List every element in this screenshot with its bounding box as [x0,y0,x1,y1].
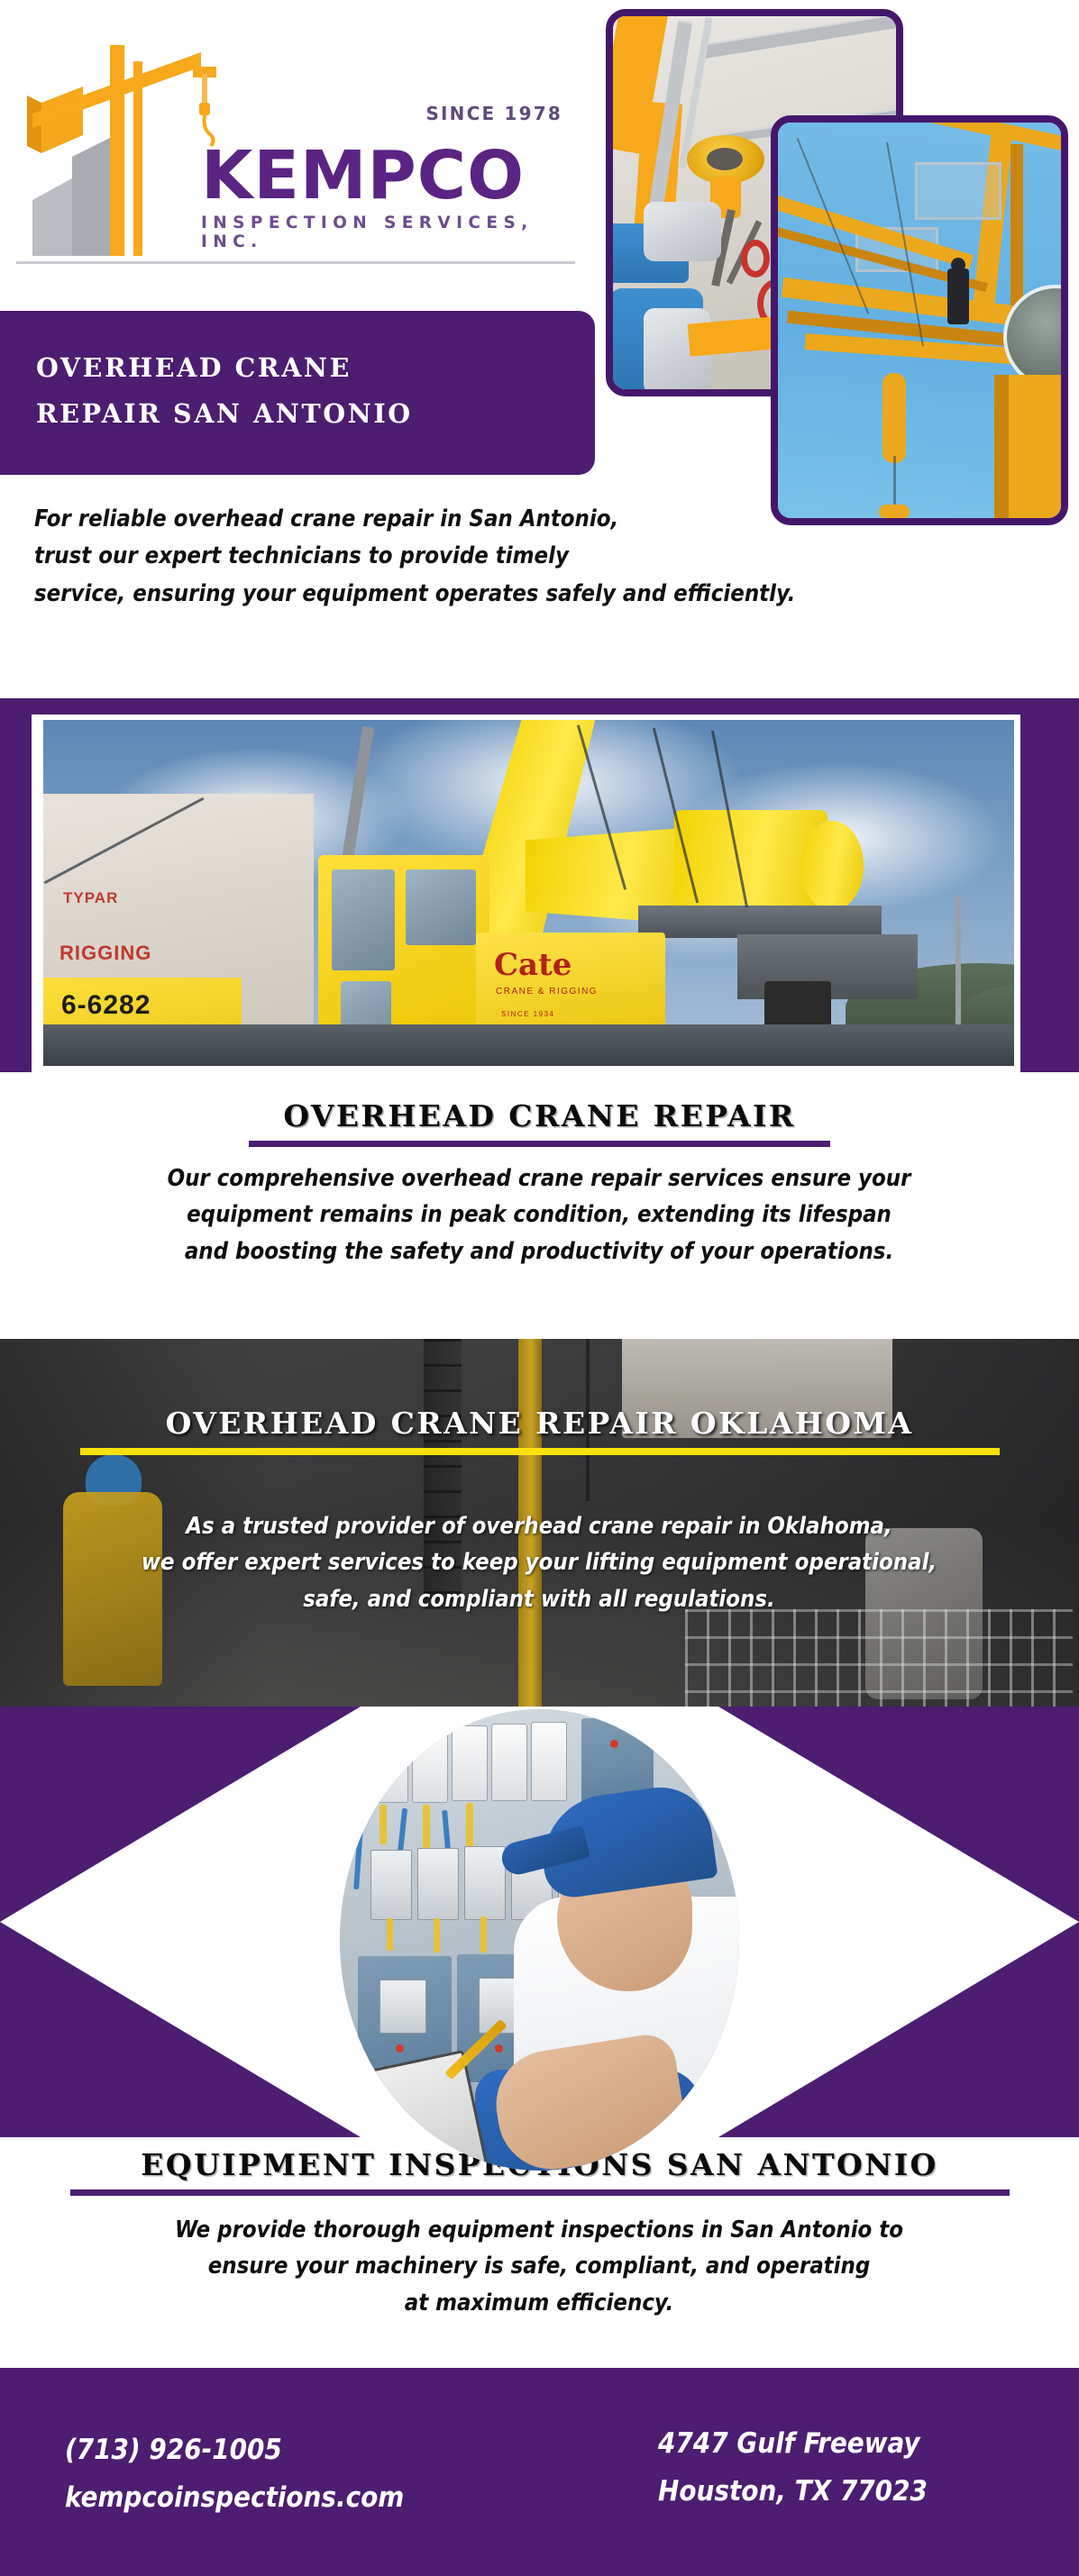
footer-address: 4747 Gulf Freeway Houston, TX 77023 [658,2420,928,2517]
section-1-heading: OVERHEAD CRANE REPAIR [0,1098,1079,1147]
logo-wordmark: KEMPCO INSPECTION SERVICES, INC. [201,144,580,251]
section-2-body: As a trusted provider of overhead crane … [43,1508,1035,1617]
section-1-heading-text: OVERHEAD CRANE REPAIR [283,1098,795,1133]
logo-divider [16,261,575,264]
section-3-heading-rule [70,2189,1010,2196]
section-2-heading-text: OVERHEAD CRANE REPAIR OKLAHOMA [166,1406,914,1441]
section-1-purple-top-band [0,698,1079,715]
logo-tagline: INSPECTION SERVICES, INC. [201,214,580,251]
inspector-scene [340,1709,739,2171]
footer-website[interactable]: kempcoinspections.com [65,2474,404,2522]
section-1-photo-mobile-crane: TYPAR RIGGING TYPAR TYPAR Cate CRANE & R… [38,715,1020,1071]
hero-intro-paragraph: For reliable overhead crane repair in Sa… [34,501,1017,613]
section-2-heading-rule [80,1448,1000,1455]
hero-title-text: OVERHEAD CRANE REPAIR SAN ANTONIO [36,345,413,436]
kempco-logo: KEMPCO INSPECTION SERVICES, INC. SINCE 1… [16,20,575,263]
logo-since-text: SINCE 1978 [425,103,562,124]
section-2-heading: OVERHEAD CRANE REPAIR OKLAHOMA [0,1406,1079,1455]
hero-photo-2-image [778,123,1061,518]
section-3-body-line-1: We provide thorough equipment inspection… [43,2212,1035,2248]
section-1-body-line-2: equipment remains in peak condition, ext… [43,1197,1035,1233]
hero-title-banner: OVERHEAD CRANE REPAIR SAN ANTONIO [0,311,595,475]
section-2-body-line-1: As a trusted provider of overhead crane … [43,1508,1035,1544]
section-2-body-line-2: we offer expert services to keep your li… [43,1544,1035,1580]
section-3-photo-inspector [340,1709,739,2171]
railing-grid-shape [685,1609,1073,1707]
hero-intro-line-1: For reliable overhead crane repair in Sa… [34,501,1017,538]
section-2-body-line-3: safe, and compliant with all regulations… [43,1581,1035,1617]
section-1-purple-left-band [0,698,32,1072]
section-1-body: Our comprehensive overhead crane repair … [43,1161,1035,1270]
left-purple-triangle [0,1707,361,2137]
footer-address-line-2: Houston, TX 77023 [658,2468,928,2516]
section-1-purple-right-band [1020,698,1079,1072]
section-1-heading-rule [249,1141,830,1147]
hero-intro-line-2: trust our expert technicians to provide … [34,538,1017,575]
footer-contact-bar: (713) 926-1005 kempcoinspections.com 474… [0,2368,1079,2576]
hero-photo-tower-crane [771,115,1068,525]
section-3-body: We provide thorough equipment inspection… [43,2212,1035,2321]
mobile-crane-scene: TYPAR RIGGING TYPAR TYPAR Cate CRANE & R… [43,720,1014,1066]
right-purple-triangle [718,1707,1079,2137]
footer-contact-left: (713) 926-1005 kempcoinspections.com [65,2426,404,2523]
hero-title-line-2: REPAIR SAN ANTONIO [36,391,413,437]
footer-phone[interactable]: (713) 926-1005 [65,2426,404,2474]
section-1-body-line-3: and boosting the safety and productivity… [43,1233,1035,1270]
logo-name: KEMPCO [201,144,580,207]
section-3-body-line-3: at maximum efficiency. [43,2285,1035,2321]
section-3-body-line-2: ensure your machinery is safe, compliant… [43,2248,1035,2284]
section-1-body-line-1: Our comprehensive overhead crane repair … [43,1161,1035,1197]
footer-address-line-1: 4747 Gulf Freeway [658,2420,928,2468]
hero-intro-line-3: service, ensuring your equipment operate… [34,576,1017,613]
header-logo-area: KEMPCO INSPECTION SERVICES, INC. SINCE 1… [0,0,595,311]
infographic-page: KEMPCO INSPECTION SERVICES, INC. SINCE 1… [0,0,1079,2576]
hero-title-line-1: OVERHEAD CRANE [36,345,413,391]
tower-crane-icon [16,20,224,263]
